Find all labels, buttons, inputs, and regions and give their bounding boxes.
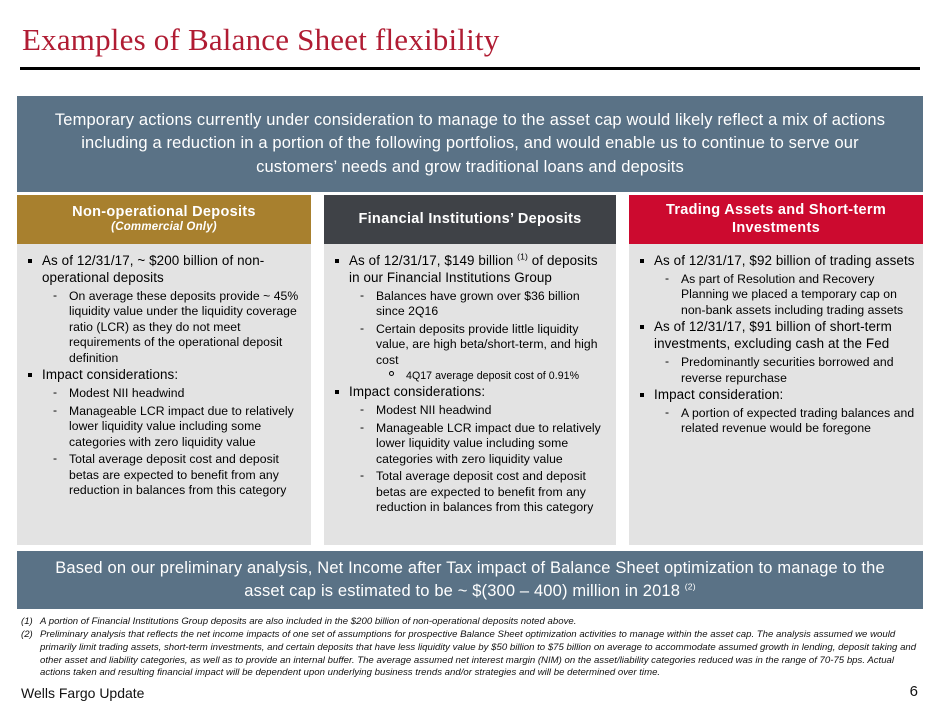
dash-bullet-icon: - bbox=[53, 451, 57, 466]
bullet-text: As of 12/31/17, $92 billion of trading a… bbox=[654, 253, 915, 268]
bullet-text: Impact consideration: bbox=[654, 387, 783, 402]
column-header-title: Financial Institutions’ Deposits bbox=[358, 211, 581, 228]
square-bullet-icon bbox=[640, 259, 644, 263]
bullet-item: - Certain deposits provide little liquid… bbox=[358, 322, 608, 384]
dash-bullet-icon: - bbox=[360, 468, 364, 483]
dash-bullet-icon: - bbox=[360, 288, 364, 303]
page-title: Examples of Balance Sheet flexibility bbox=[22, 22, 499, 58]
bullet-text: Total average deposit cost and deposit b… bbox=[69, 452, 286, 497]
footnote-row: (2) Preliminary analysis that reflects t… bbox=[21, 629, 925, 680]
bullet-list-level1: As of 12/31/17, $92 billion of trading a… bbox=[637, 253, 915, 437]
square-bullet-icon bbox=[640, 393, 644, 397]
footnote-marker: (2) bbox=[21, 629, 40, 642]
bullet-item: - Modest NII headwind bbox=[358, 403, 608, 418]
bullet-item: - Manageable LCR impact due to relativel… bbox=[358, 421, 608, 467]
bullet-text: Manageable LCR impact due to relatively … bbox=[376, 421, 601, 466]
bullet-item: - Balances have grown over $36 billion s… bbox=[358, 289, 608, 320]
column-header-trading-assets: Trading Assets and Short-term Investment… bbox=[629, 195, 923, 244]
bullet-text: Impact considerations: bbox=[349, 384, 485, 399]
column-trading-assets-short-term-investments: Trading Assets and Short-term Investment… bbox=[629, 195, 923, 545]
bullet-item: - On average these deposits provide ~ 45… bbox=[51, 289, 303, 366]
bullet-list-level2: - Modest NII headwind - Manageable LCR i… bbox=[51, 386, 303, 498]
square-bullet-icon bbox=[640, 325, 644, 329]
bullet-text: On average these deposits provide ~ 45% … bbox=[69, 289, 298, 365]
bullet-item: - A portion of expected trading balances… bbox=[663, 406, 915, 437]
page-number: 6 bbox=[910, 683, 918, 700]
dash-bullet-icon: - bbox=[53, 288, 57, 303]
bullet-list-level2: - As part of Resolution and Recovery Pla… bbox=[663, 272, 915, 318]
bullet-text: Manageable LCR impact due to relatively … bbox=[69, 404, 294, 449]
bullet-text: Certain deposits provide little liquidit… bbox=[376, 322, 598, 367]
title-divider bbox=[20, 67, 920, 70]
column-body-trading-assets: As of 12/31/17, $92 billion of trading a… bbox=[629, 244, 923, 545]
bullet-item: - As part of Resolution and Recovery Pla… bbox=[663, 272, 915, 318]
bullet-text: As part of Resolution and Recovery Plann… bbox=[681, 272, 903, 317]
footnote-text: Preliminary analysis that reflects the n… bbox=[40, 629, 925, 680]
square-bullet-icon bbox=[28, 373, 32, 377]
bullet-text: Total average deposit cost and deposit b… bbox=[376, 469, 593, 514]
bullet-list-level1: As of 12/31/17, $149 billion (1) of depo… bbox=[332, 253, 608, 516]
bullet-text: 4Q17 average deposit cost of 0.91% bbox=[406, 370, 579, 382]
footnote-reference-2: (2) bbox=[685, 582, 696, 592]
square-bullet-icon bbox=[335, 259, 339, 263]
bullet-list-level1: As of 12/31/17, ~ $200 billion of non-op… bbox=[25, 253, 303, 498]
bullet-text: As of 12/31/17, $91 billion of short-ter… bbox=[654, 319, 892, 351]
bullet-text: Modest NII headwind bbox=[69, 386, 184, 400]
dash-bullet-icon: - bbox=[665, 354, 669, 369]
bullet-text: Impact considerations: bbox=[42, 367, 178, 382]
bullet-text: Balances have grown over $36 billion sin… bbox=[376, 289, 580, 318]
dash-bullet-icon: - bbox=[360, 321, 364, 336]
bottom-banner-main-text: Based on our preliminary analysis, Net I… bbox=[55, 559, 885, 600]
column-body-non-operational-deposits: As of 12/31/17, ~ $200 billion of non-op… bbox=[17, 244, 311, 545]
category-columns: Non-operational Deposits (Commercial Onl… bbox=[17, 195, 923, 545]
bullet-text: Predominantly securities borrowed and re… bbox=[681, 355, 894, 384]
bullet-text: As of 12/31/17, $149 billion bbox=[349, 253, 517, 268]
bullet-item: As of 12/31/17, ~ $200 billion of non-op… bbox=[25, 253, 303, 366]
top-summary-banner-text: Temporary actions currently under consid… bbox=[43, 109, 897, 179]
column-header-title: Non-operational Deposits bbox=[72, 204, 256, 221]
bullet-text: A portion of expected trading balances a… bbox=[681, 406, 914, 435]
bullet-text: Modest NII headwind bbox=[376, 403, 491, 417]
bullet-list-level2: - Balances have grown over $36 billion s… bbox=[358, 289, 608, 384]
column-header-non-operational-deposits: Non-operational Deposits (Commercial Onl… bbox=[17, 195, 311, 244]
bullet-item: As of 12/31/17, $92 billion of trading a… bbox=[637, 253, 915, 318]
bullet-list-level2: - Modest NII headwind - Manageable LCR i… bbox=[358, 403, 608, 515]
column-financial-institutions-deposits: Financial Institutions’ Deposits As of 1… bbox=[324, 195, 616, 545]
dash-bullet-icon: - bbox=[360, 402, 364, 417]
column-header-financial-institutions-deposits: Financial Institutions’ Deposits bbox=[324, 195, 616, 244]
dash-bullet-icon: - bbox=[53, 385, 57, 400]
bullet-item: - Predominantly securities borrowed and … bbox=[663, 355, 915, 386]
bullet-text: As of 12/31/17, ~ $200 billion of non-op… bbox=[42, 253, 264, 285]
bullet-item: - Total average deposit cost and deposit… bbox=[51, 452, 303, 498]
bullet-list-level2: - A portion of expected trading balances… bbox=[663, 406, 915, 437]
bullet-list-level2: - On average these deposits provide ~ 45… bbox=[51, 289, 303, 366]
bullet-item: Impact consideration: - A portion of exp… bbox=[637, 387, 915, 437]
footnotes: (1) A portion of Financial Institutions … bbox=[21, 616, 925, 680]
bullet-item: - Modest NII headwind bbox=[51, 386, 303, 401]
dash-bullet-icon: - bbox=[665, 405, 669, 420]
column-body-financial-institutions-deposits: As of 12/31/17, $149 billion (1) of depo… bbox=[324, 244, 616, 545]
bullet-item: - Total average deposit cost and deposit… bbox=[358, 469, 608, 515]
footer-label: Wells Fargo Update bbox=[21, 685, 144, 701]
column-header-subtitle: (Commercial Only) bbox=[111, 221, 217, 235]
bullet-item: 4Q17 average deposit cost of 0.91% bbox=[386, 370, 608, 383]
bottom-summary-banner-text: Based on our preliminary analysis, Net I… bbox=[37, 557, 903, 603]
bullet-item: Impact considerations: - Modest NII head… bbox=[25, 367, 303, 498]
dash-bullet-icon: - bbox=[360, 420, 364, 435]
column-header-title: Trading Assets and Short-term Investment… bbox=[637, 202, 915, 236]
bullet-item: As of 12/31/17, $91 billion of short-ter… bbox=[637, 319, 915, 386]
bullet-item: - Manageable LCR impact due to relativel… bbox=[51, 404, 303, 450]
bullet-item: As of 12/31/17, $149 billion (1) of depo… bbox=[332, 253, 608, 383]
square-bullet-icon bbox=[335, 390, 339, 394]
footnote-marker: (1) bbox=[21, 616, 40, 629]
bottom-summary-banner: Based on our preliminary analysis, Net I… bbox=[17, 551, 923, 609]
bullet-list-level3: 4Q17 average deposit cost of 0.91% bbox=[386, 370, 608, 383]
bullet-item: Impact considerations: - Modest NII head… bbox=[332, 384, 608, 515]
circle-bullet-icon bbox=[389, 371, 394, 376]
footnote-row: (1) A portion of Financial Institutions … bbox=[21, 616, 925, 629]
top-summary-banner: Temporary actions currently under consid… bbox=[17, 96, 923, 192]
dash-bullet-icon: - bbox=[53, 403, 57, 418]
bullet-list-level2: - Predominantly securities borrowed and … bbox=[663, 355, 915, 386]
column-non-operational-deposits: Non-operational Deposits (Commercial Onl… bbox=[17, 195, 311, 545]
dash-bullet-icon: - bbox=[665, 271, 669, 286]
square-bullet-icon bbox=[28, 259, 32, 263]
footnote-text: A portion of Financial Institutions Grou… bbox=[40, 616, 925, 629]
footnote-reference-1: (1) bbox=[517, 252, 528, 262]
